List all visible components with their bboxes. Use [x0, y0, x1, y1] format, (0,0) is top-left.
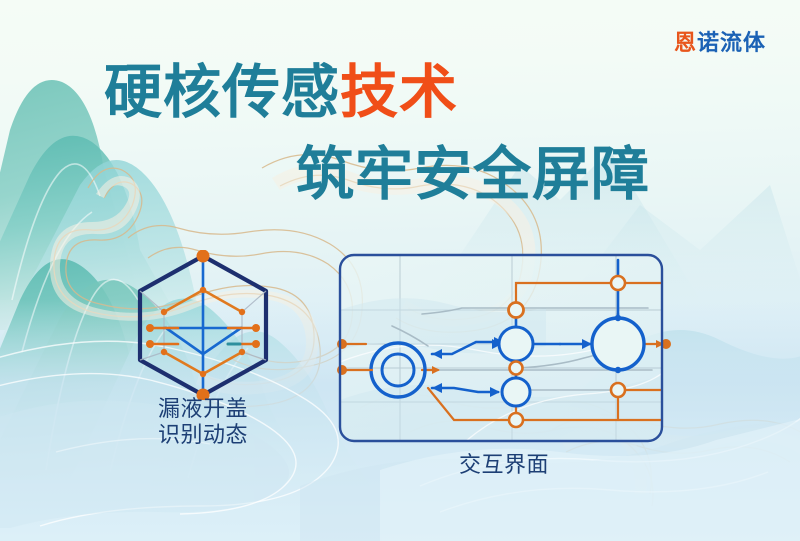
brand-logo-first-char: 恩: [674, 30, 697, 55]
panel-ring-lower-right: [611, 383, 625, 397]
brand-logo-rest-chars: 诺流体: [697, 30, 766, 55]
panel-caption: 交互界面: [336, 453, 672, 477]
panel-node-right: [592, 318, 644, 370]
panel-node-middle-lower: [502, 378, 530, 406]
panel-ring-top-right: [611, 276, 625, 290]
panel-ring-center-mid: [510, 362, 523, 375]
headline: 硬核传感技术 筑牢安全屏障: [0, 58, 800, 218]
interface-panel-diagram: [336, 250, 672, 450]
brand-logo[interactable]: 恩诺流体: [664, 28, 776, 58]
hexagon-diagram: [108, 250, 298, 400]
hexagon-module: 漏液开盖 识别动态: [108, 250, 298, 460]
interface-panel-module: 交互界面: [336, 250, 672, 490]
poster-root: 恩诺流体 硬核传感技术 筑牢安全屏障: [0, 0, 800, 541]
hexagon-caption-line-2: 识别动态: [108, 422, 298, 448]
headline-line-1-orange: 技术: [340, 60, 458, 125]
brand-logo-text: 恩诺流体: [674, 32, 766, 54]
hexagon-caption: 漏液开盖 识别动态: [108, 396, 298, 447]
panel-ring-bottom-mid: [509, 413, 523, 427]
panel-node-middle-upper: [499, 327, 533, 361]
hex-node-top: [197, 250, 210, 263]
headline-line-2: 筑牢安全屏障: [296, 146, 650, 204]
panel-ring-upper-mid: [509, 303, 524, 318]
headline-line-1-teal: 硬核传感: [104, 60, 340, 125]
headline-line-1: 硬核传感技术: [104, 64, 458, 122]
hexagon-caption-line-1: 漏液开盖: [108, 396, 298, 422]
